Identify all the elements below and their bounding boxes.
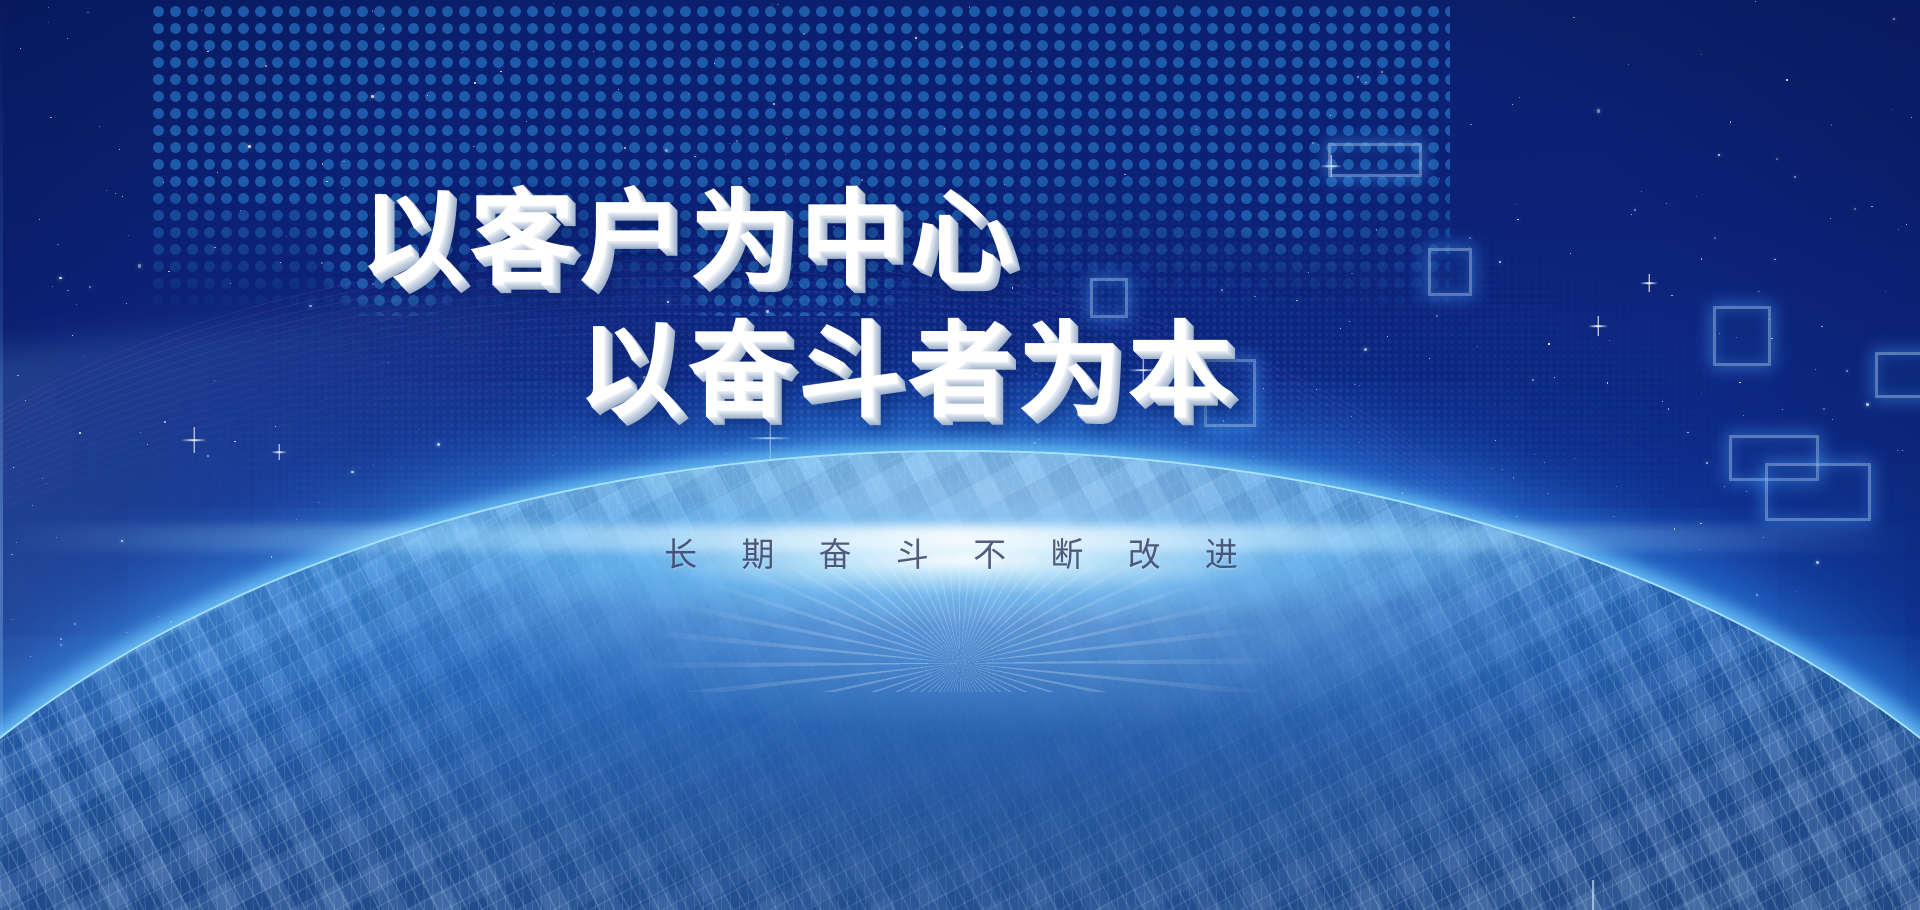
horizon-light-streak	[0, 525, 1920, 551]
bottom-tick-mark	[1592, 880, 1594, 910]
deco-rect-2	[1428, 248, 1472, 296]
earth-scene	[0, 0, 1920, 910]
deco-rect-3	[1090, 278, 1128, 318]
deco-rect-5	[1713, 306, 1771, 366]
deco-rect-4	[1204, 359, 1256, 427]
deco-rect-8	[1875, 352, 1920, 398]
deco-rect-7	[1765, 463, 1871, 521]
light-burst-rays	[510, 452, 1410, 692]
deco-rect-1	[1328, 143, 1422, 177]
promo-poster: 以客户为中心 以奋斗者为本 长 期 奋 斗 不 断 改 进	[0, 0, 1920, 910]
left-edge-highlight	[0, 0, 3, 910]
